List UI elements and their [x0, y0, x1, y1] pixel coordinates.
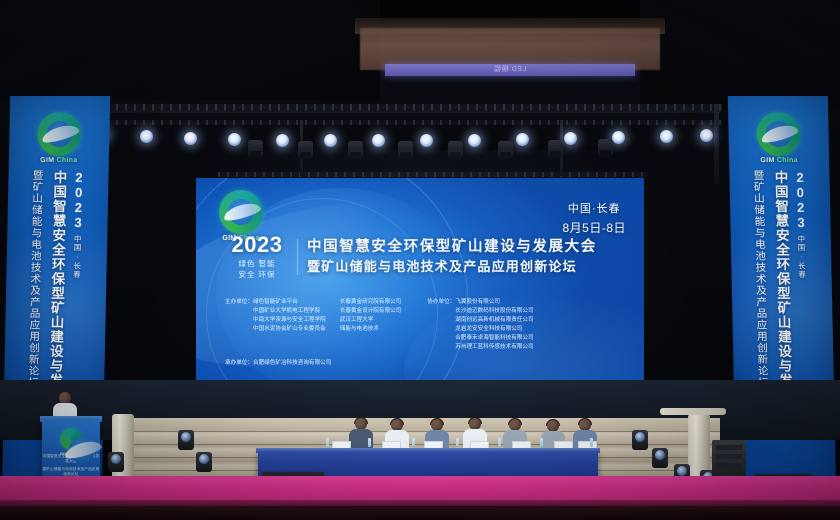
stage-lamp	[324, 134, 337, 147]
balustrade-rail-right	[660, 408, 726, 415]
gim-logo-icon	[756, 112, 801, 156]
host-column-1: 绿色智能矿业平台 中国矿业大学机电工程学院 中南大学资源与安全工程学院 中国水泥…	[253, 298, 326, 352]
screen-year: 2023	[226, 234, 288, 256]
podium-logo: GIM China	[54, 428, 88, 456]
stage-lamp	[184, 132, 197, 145]
headline-divider	[297, 239, 298, 275]
screen-place-block: 中国·长春 8月5日-8日	[562, 200, 626, 236]
right-banner-year: 2023	[792, 170, 808, 230]
floor-moving-head	[632, 430, 648, 450]
floor-moving-head	[652, 448, 668, 468]
moving-head-light	[348, 141, 363, 158]
right-banner-logo: GIM China	[748, 112, 809, 164]
sponsor-grid: 主办单位： 绿色智能矿业平台 中国矿业大学机电工程学院 中南大学资源与安全工程学…	[225, 298, 625, 352]
cosponsor-label: 协办单位：	[427, 298, 455, 352]
left-banner-place: 中国·长春	[71, 235, 83, 279]
stage-lamp	[660, 130, 673, 143]
screen-year-block: 2023 绿色 智能 安全 环保	[226, 234, 288, 281]
truss-main-upper	[62, 104, 722, 111]
venue-led-sign-text: LED 横幅	[385, 64, 635, 76]
stage-lamp	[468, 134, 481, 147]
host-block: 主办单位： 绿色智能矿业平台 中国矿业大学机电工程学院 中南大学资源与安全工程学…	[225, 298, 401, 352]
cosponsor-item: 长沙迪迈数码科技股份有限公司	[455, 307, 533, 316]
step-edge	[120, 431, 720, 432]
water-bottle	[368, 438, 371, 447]
moving-head-light	[298, 141, 313, 158]
right-banner-place: 中国·长春	[796, 235, 808, 279]
host-item: 储能与电池技术	[340, 325, 402, 334]
gim-logo-sub: China	[56, 157, 77, 164]
stage-lamp	[276, 134, 289, 147]
ceiling-right	[640, 0, 840, 110]
screen-title-block: 中国智慧安全环保型矿山建设与发展大会 暨矿山储能与电池技术及产品应用创新论坛	[307, 239, 597, 276]
water-bottle	[326, 438, 329, 447]
right-banner-title-main: 中国智慧安全环保型矿山建设与发展大会	[769, 170, 796, 490]
truss-vertical-right	[714, 104, 719, 184]
gim-logo-text: GIM China	[749, 157, 809, 164]
host-item: 长春黄金设计院有限公司	[340, 307, 402, 316]
right-banner-year-col: 2023 中国·长春	[792, 170, 814, 490]
stage-lamp	[564, 132, 577, 145]
water-bottle	[412, 438, 415, 447]
moving-head-light	[498, 141, 513, 158]
conference-stage-photo: LED 横幅 GIM	[0, 0, 840, 520]
moving-head-light	[448, 141, 463, 158]
cosponsor-item: 湖南创远高新机械有限责任公司	[455, 316, 533, 325]
host-item: 中南大学资源与安全工程学院	[253, 316, 326, 325]
host-item: 长春黄金研究院有限公司	[340, 298, 402, 307]
stage-lamp	[140, 130, 153, 143]
screen-slogan: 绿色 智能 安全 环保	[226, 259, 288, 281]
floor-moving-head	[196, 452, 212, 472]
stage-lamp	[700, 129, 713, 142]
cosponsor-item: 龙岩龙安安全科技有限公司	[455, 325, 533, 334]
moving-head-light	[248, 140, 263, 157]
host-label: 主办单位：	[225, 298, 253, 352]
screen-slogan-line2: 安全 环保	[226, 270, 288, 281]
gim-logo-icon	[60, 428, 82, 450]
host-item: 绿色智能矿业平台	[253, 298, 326, 307]
cosponsor-column: 飞翼股份有限公司 长沙迪迈数码科技股份有限公司 湖南创远高新机械有限责任公司 龙…	[455, 298, 533, 352]
stage-lamp	[420, 134, 433, 147]
moving-head-light	[598, 139, 613, 156]
truss-main-lower	[62, 120, 722, 125]
cosponsor-block: 协办单位： 飞翼股份有限公司 长沙迪迈数码科技股份有限公司 湖南创远高新机械有限…	[427, 298, 533, 352]
gim-logo-sub: China	[777, 157, 798, 164]
screen-headline: 2023 绿色 智能 安全 环保 中国智慧安全环保型矿山建设与发展大会 暨矿山储…	[226, 234, 597, 281]
screen-title-line1: 中国智慧安全环保型矿山建设与发展大会	[307, 239, 597, 256]
organizer-label: 承办单位：	[225, 359, 253, 368]
cosponsor-item: 飞翼股份有限公司	[455, 298, 533, 307]
cosponsor-item: 苏州理工蓝科传感技术有限公司	[455, 343, 533, 352]
water-bottle	[498, 438, 501, 447]
host-column-2: 长春黄金研究院有限公司 长春黄金设计院有限公司 武汉工程大学 储能与电池技术	[340, 298, 402, 352]
water-bottle	[540, 438, 543, 447]
gim-logo-icon	[37, 112, 82, 156]
gim-logo-icon	[219, 190, 263, 234]
venue-led-sign: LED 横幅	[385, 64, 635, 76]
moving-head-light	[398, 141, 413, 158]
screen-title-line2: 暨矿山储能与电池技术及产品应用创新论坛	[307, 259, 597, 275]
stage-carpet	[0, 476, 840, 502]
organizer-block: 承办单位： 合肥绿色矿冶科技咨询有限公司	[225, 359, 625, 368]
foreground-floor	[0, 506, 840, 520]
gim-logo-main: GIM	[40, 157, 54, 164]
truss-secondary-upper	[218, 172, 648, 177]
host-item: 武汉工程大学	[340, 316, 402, 325]
water-bottle	[456, 438, 459, 447]
stage-lamp	[372, 134, 385, 147]
gim-logo-text: GIM China	[29, 157, 89, 164]
water-bottle	[590, 438, 593, 447]
stage-lamp	[228, 133, 241, 146]
step-edge	[120, 444, 720, 445]
gim-logo-main: GIM	[760, 157, 774, 164]
host-item: 中国水泥协会矿山专业委员会	[253, 325, 326, 334]
left-banner-logo: GIM China	[29, 112, 90, 164]
stage-lamp	[516, 133, 529, 146]
organizer-value: 合肥绿色矿冶科技咨询有限公司	[253, 359, 331, 368]
floor-moving-head	[178, 430, 194, 450]
floor-moving-head	[108, 452, 124, 472]
screen-city: 中国·长春	[562, 200, 626, 216]
stage-lamp	[612, 131, 625, 144]
cosponsor-item: 合肥泰禾卓海智能科技有限公司	[455, 334, 533, 343]
ceiling-left	[0, 0, 380, 100]
moving-head-light	[548, 140, 563, 157]
host-item: 中国矿业大学机电工程学院	[253, 307, 326, 316]
screen-sponsors: 主办单位： 绿色智能矿业平台 中国矿业大学机电工程学院 中南大学资源与安全工程学…	[225, 298, 625, 368]
screen-slogan-line1: 绿色 智能	[226, 259, 288, 270]
left-banner-year: 2023	[70, 170, 86, 230]
